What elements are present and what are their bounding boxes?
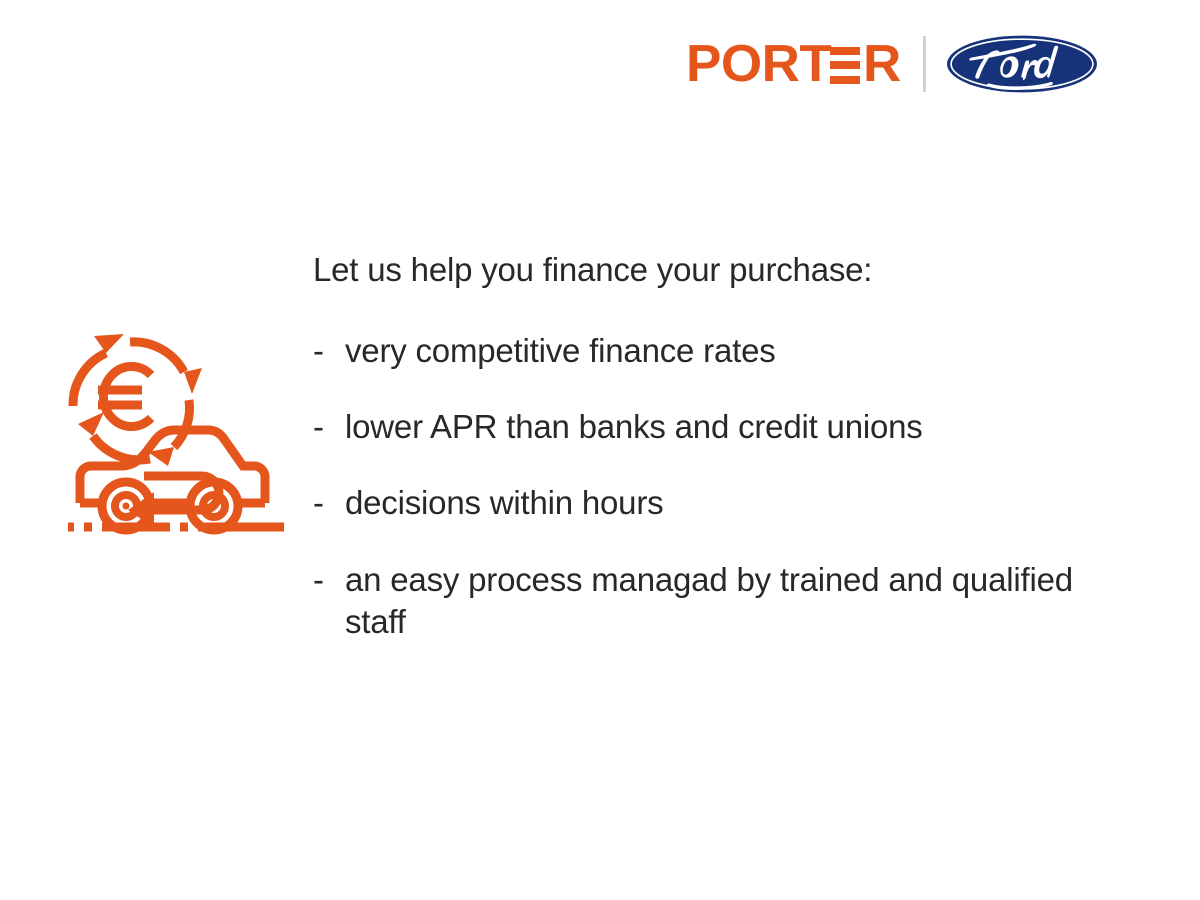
- list-item: - very competitive finance rates: [313, 330, 1113, 372]
- benefits-list: - very competitive finance rates - lower…: [313, 330, 1113, 643]
- porter-stylized-e-icon: [830, 47, 860, 84]
- bullet-dash-icon: -: [313, 330, 345, 372]
- benefit-text: lower APR than banks and credit unions: [345, 406, 1090, 448]
- porter-logo[interactable]: PORT R: [686, 38, 901, 90]
- ford-logo[interactable]: [946, 34, 1098, 94]
- list-item: - an easy process managad by trained and…: [313, 559, 1113, 643]
- page-title: Let us help you finance your purchase:: [313, 251, 1113, 290]
- bullet-dash-icon: -: [313, 559, 345, 601]
- list-item: - lower APR than banks and credit unions: [313, 406, 1113, 448]
- porter-wordmark-suffix: R: [863, 38, 901, 90]
- list-item: - decisions within hours: [313, 482, 1113, 524]
- brand-header: PORT R: [686, 33, 1098, 95]
- bullet-dash-icon: -: [313, 406, 345, 448]
- benefit-text: an easy process managad by trained and q…: [345, 559, 1090, 643]
- benefit-text: decisions within hours: [345, 482, 1090, 524]
- car-euro-finance-icon: [58, 328, 294, 562]
- bullet-dash-icon: -: [313, 482, 345, 524]
- brand-divider: [923, 36, 926, 92]
- finance-copy-block: Let us help you finance your purchase: -…: [313, 251, 1113, 643]
- benefit-text: very competitive finance rates: [345, 330, 1090, 372]
- porter-wordmark-prefix: PORT: [686, 38, 831, 90]
